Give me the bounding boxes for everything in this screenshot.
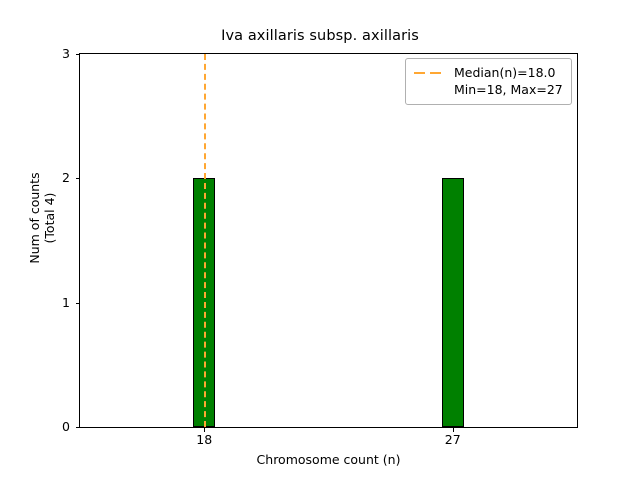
legend-label-median: Median(n)=18.0 bbox=[454, 65, 555, 80]
y-tick-3 bbox=[76, 54, 81, 55]
x-tick-27 bbox=[453, 427, 454, 432]
x-tick-label-27: 27 bbox=[413, 434, 493, 447]
y-tick-label-0: 0 bbox=[10, 421, 70, 434]
y-axis-label-wrapper: Num of counts (Total 4) bbox=[22, 118, 62, 318]
median-line bbox=[204, 54, 206, 427]
legend: Median(n)=18.0 Min=18, Max=27 bbox=[405, 58, 572, 105]
chart-figure: Iva axillaris subsp. axillaris 01231827 … bbox=[0, 0, 640, 480]
y-tick-1 bbox=[76, 303, 81, 304]
y-tick-label-3: 3 bbox=[10, 48, 70, 61]
legend-label: Median(n)=18.0 Min=18, Max=27 bbox=[454, 65, 563, 98]
chart-title: Iva axillaris subsp. axillaris bbox=[0, 28, 640, 44]
plot-area: 01231827 bbox=[79, 53, 578, 428]
y-tick-label-2: 2 bbox=[10, 172, 70, 185]
plot-inner bbox=[80, 54, 577, 427]
y-tick-2 bbox=[76, 178, 81, 179]
legend-label-minmax: Min=18, Max=27 bbox=[454, 82, 563, 99]
x-tick-label-18: 18 bbox=[164, 434, 244, 447]
bar-27 bbox=[442, 178, 464, 427]
x-tick-18 bbox=[204, 427, 205, 432]
y-axis-label: Num of counts (Total 4) bbox=[27, 172, 58, 263]
x-axis-label: Chromosome count (n) bbox=[79, 452, 578, 467]
legend-entry: Median(n)=18.0 Min=18, Max=27 bbox=[413, 65, 563, 98]
dashed-line-icon bbox=[413, 65, 447, 82]
y-tick-0 bbox=[76, 427, 81, 428]
y-tick-label-1: 1 bbox=[10, 297, 70, 310]
